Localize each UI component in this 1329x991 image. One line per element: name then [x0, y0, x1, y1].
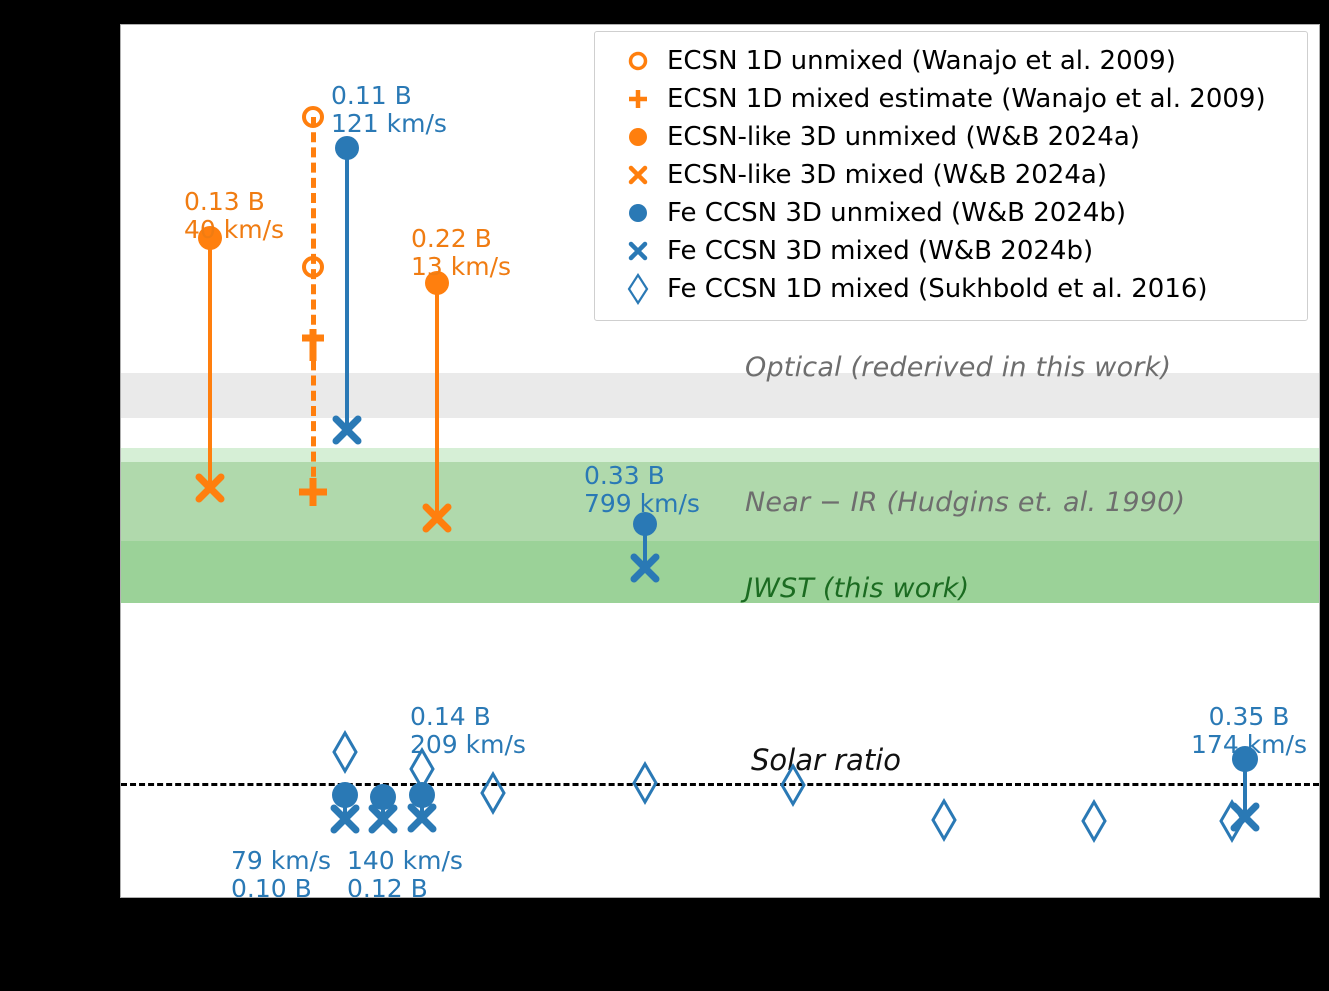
series-4-velocity: 13 km/s [411, 253, 511, 281]
legend-item-label: Fe CCSN 1D mixed (Sukhbold et al. 2016) [667, 274, 1208, 304]
plot-area: Optical (rederived in this work) Near − … [120, 24, 1320, 898]
series-3-stem [345, 148, 349, 430]
series-b4-annotation: 0.35 B 174 km/s [1191, 703, 1307, 759]
open-circle-icon [609, 50, 667, 72]
sukhbold-diamond-icon [332, 731, 358, 773]
series-3-energy: 0.11 B [331, 82, 447, 110]
series-b1-annotation: 79 km/s 0.10 B [231, 847, 331, 898]
x-icon [609, 239, 667, 263]
legend-item-label: ECSN-like 3D mixed (W&B 2024a) [667, 160, 1107, 190]
series-1-energy: 0.13 B [184, 188, 284, 216]
series-4-mixed-x-icon [420, 501, 454, 535]
legend-item[interactable]: Fe CCSN 3D unmixed (W&B 2024b) [609, 194, 1293, 232]
series-2-dagger-icon [298, 327, 328, 363]
series-2-unmixed-open-circle-top-icon [302, 106, 324, 128]
series-b4-mixed-x-icon [1228, 800, 1262, 834]
band-label-jwst: JWST (this work) [745, 573, 969, 604]
series-5-velocity: 799 km/s [584, 490, 700, 518]
series-b1-energy: 0.10 B [231, 875, 331, 898]
legend-item[interactable]: ECSN 1D unmixed (Wanajo et al. 2009) [609, 42, 1293, 80]
legend-item-label: ECSN 1D mixed estimate (Wanajo et al. 20… [667, 84, 1266, 114]
series-5-energy: 0.33 B [584, 462, 700, 490]
legend-item-label: Fe CCSN 3D mixed (W&B 2024b) [667, 236, 1093, 266]
series-2-unmixed-open-circle-bottom-icon [302, 256, 324, 278]
series-1-velocity: 40 km/s [184, 216, 284, 244]
legend-item-label: ECSN 1D unmixed (Wanajo et al. 2009) [667, 46, 1176, 76]
series-3-unmixed-dot-icon [335, 136, 359, 160]
sukhbold-diamond-icon [1081, 800, 1107, 842]
series-5-mixed-x-icon [628, 551, 662, 585]
band-jwst-lower [121, 541, 1319, 603]
solar-ratio-line [121, 783, 1319, 786]
series-1-mixed-x-icon [193, 471, 227, 505]
series-1-annotation: 0.13 B 40 km/s [184, 188, 284, 244]
legend-item[interactable]: ECSN-like 3D mixed (W&B 2024a) [609, 156, 1293, 194]
filled-circle-icon [609, 126, 667, 148]
legend[interactable]: ECSN 1D unmixed (Wanajo et al. 2009) ECS… [594, 31, 1308, 321]
band-label-optical: Optical (rederived in this work) [745, 352, 1171, 383]
legend-item[interactable]: Fe CCSN 3D mixed (W&B 2024b) [609, 232, 1293, 270]
legend-item-label: Fe CCSN 3D unmixed (W&B 2024b) [667, 198, 1126, 228]
legend-item[interactable]: ECSN 1D mixed estimate (Wanajo et al. 20… [609, 80, 1293, 118]
series-b3-annotation: 0.14 B 209 km/s [410, 703, 526, 759]
series-b3-mixed-x-icon [405, 801, 439, 835]
sukhbold-diamond-icon [780, 764, 806, 806]
legend-item-label: ECSN-like 3D unmixed (W&B 2024a) [667, 122, 1140, 152]
series-b1-mixed-x-icon [328, 802, 362, 836]
series-b4-energy: 0.35 B [1191, 703, 1307, 731]
solar-ratio-label: Solar ratio [751, 743, 901, 777]
series-b4-velocity: 174 km/s [1191, 731, 1307, 759]
series-5-annotation: 0.33 B 799 km/s [584, 462, 700, 518]
sukhbold-diamond-icon [931, 799, 957, 841]
series-2-mixed-plus-icon [296, 475, 330, 509]
figure-root: Optical (rederived in this work) Near − … [0, 0, 1329, 991]
legend-item[interactable]: Fe CCSN 1D mixed (Sukhbold et al. 2016) [609, 270, 1293, 308]
sukhbold-diamond-icon [632, 762, 658, 804]
series-2-stem [311, 117, 316, 492]
series-b2-velocity: 140 km/s [347, 847, 463, 875]
open-diamond-icon [609, 273, 667, 305]
band-label-near-ir: Near − IR (Hudgins et. al. 1990) [745, 487, 1185, 518]
series-b3-velocity: 209 km/s [410, 731, 526, 759]
series-b2-energy: 0.12 B [347, 875, 463, 898]
sukhbold-diamond-icon [480, 772, 506, 814]
series-4-annotation: 0.22 B 13 km/s [411, 225, 511, 281]
legend-item[interactable]: ECSN-like 3D unmixed (W&B 2024a) [609, 118, 1293, 156]
filled-circle-icon [609, 202, 667, 224]
series-b1-velocity: 79 km/s [231, 847, 331, 875]
plus-icon [609, 87, 667, 111]
series-4-energy: 0.22 B [411, 225, 511, 253]
series-b3-energy: 0.14 B [410, 703, 526, 731]
series-3-mixed-x-icon [330, 413, 364, 447]
series-b2-mixed-x-icon [366, 802, 400, 836]
series-4-stem [435, 283, 439, 518]
x-icon [609, 163, 667, 187]
series-3-velocity: 121 km/s [331, 110, 447, 138]
series-3-annotation: 0.11 B 121 km/s [331, 82, 447, 138]
series-b2-annotation: 140 km/s 0.12 B [347, 847, 463, 898]
series-1-stem [208, 238, 212, 488]
